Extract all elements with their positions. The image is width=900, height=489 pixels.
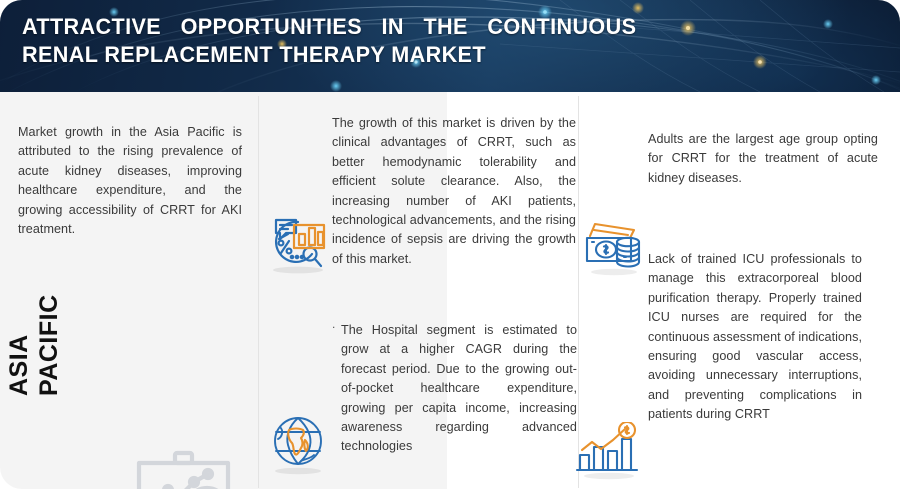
page-title: ATTRACTIVE OPPORTUNITIES IN THE CONTINUO… [22, 13, 636, 69]
right-paragraph-2: Lack of trained ICU professionals to man… [648, 250, 862, 425]
infographic-page: ATTRACTIVE OPPORTUNITIES IN THE CONTINUO… [0, 0, 900, 489]
middle-paragraph-1: The growth of this market is driven by t… [332, 114, 576, 269]
asia-pacific-paragraph: Market growth in the Asia Pacific is att… [18, 123, 242, 239]
column-divider-left [258, 96, 259, 488]
presentation-chart-search-icon [128, 450, 240, 489]
market-analytics-icon [268, 210, 330, 281]
bar-chart-growth-dollar-icon [575, 422, 643, 489]
header-banner: ATTRACTIVE OPPORTUNITIES IN THE CONTINUO… [0, 0, 900, 92]
money-cash-coins-icon [584, 216, 644, 283]
region-label-text: ASIA PACIFIC [4, 294, 64, 396]
content-area: Market growth in the Asia Pacific is att… [0, 92, 900, 489]
globe-icon [270, 415, 328, 482]
middle-paragraph-2: The Hospital segment is estimated to gro… [341, 321, 577, 457]
region-label: ASIA PACIFIC [6, 340, 126, 460]
right-paragraph-1: Adults are the largest age group opting … [648, 130, 878, 188]
stray-punctuation-mark: . [332, 320, 335, 328]
